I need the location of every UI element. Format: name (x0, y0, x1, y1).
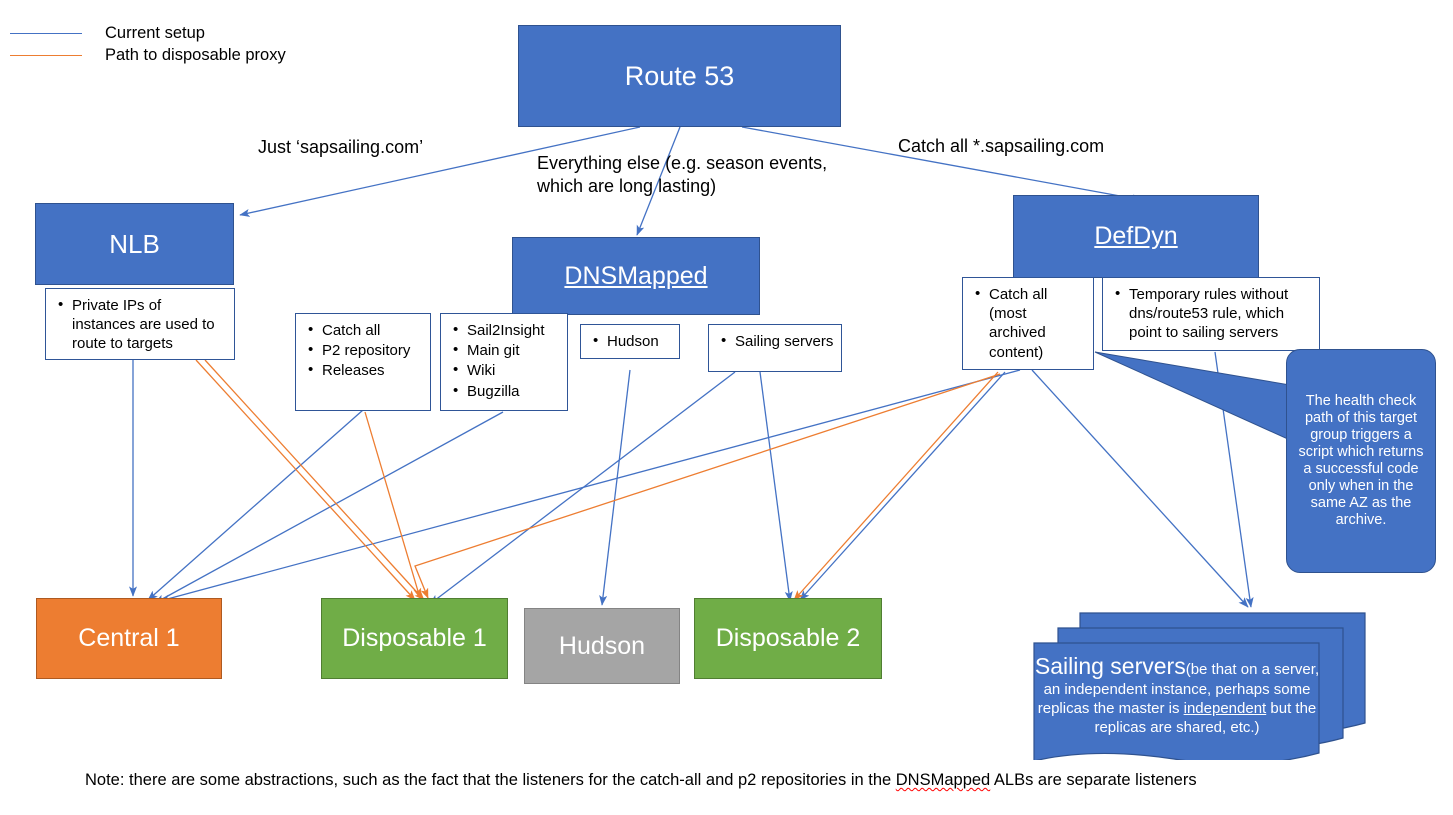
footnote-emphasis: DNSMapped (896, 771, 990, 789)
callout-text: The health check path of this target gro… (1297, 393, 1425, 530)
diagram-canvas: Current setup Path to disposable proxy J… (0, 0, 1453, 815)
node-hudson-label: Hudson (559, 632, 645, 661)
callout-tail-icon (1090, 340, 1300, 570)
node-disposable-1[interactable]: Disposable 1 (321, 598, 508, 679)
node-route53-label: Route 53 (625, 61, 735, 92)
legend-label-disposable-path: Path to disposable proxy (105, 46, 286, 65)
node-disposable-1-label: Disposable 1 (342, 624, 487, 653)
node-disposable-2-label: Disposable 2 (716, 624, 861, 653)
node-hudson[interactable]: Hudson (524, 608, 680, 684)
edge-label-catch-all-wildcard: Catch all *.sapsailing.com (898, 135, 1104, 158)
node-disposable-2[interactable]: Disposable 2 (694, 598, 882, 679)
bullet-item: Sail2Insight (467, 321, 561, 340)
bullet-item: Catch all (322, 321, 424, 340)
bullet-item: Wiki (467, 361, 561, 380)
footnote: Note: there are some abstractions, such … (85, 771, 1197, 790)
edge-label-just-sapsailing: Just ‘sapsailing.com’ (258, 136, 423, 159)
footnote-suffix: ALBs are separate listeners (990, 771, 1196, 789)
legend-label-current-setup: Current setup (105, 24, 205, 43)
bullet-item: Private IPs of instances are used to rou… (72, 296, 228, 354)
node-central-1[interactable]: Central 1 (36, 598, 222, 679)
node-dnsmapped-label: DNSMapped (564, 262, 707, 291)
sailing-servers-caption: Sailing servers(be that on a server, an … (1032, 652, 1322, 738)
bullets-defdyn-catchall: Catch all (most archived content) (962, 277, 1094, 370)
edge-label-everything-else: Everything else (e.g. season events, whi… (537, 152, 827, 197)
node-central-1-label: Central 1 (78, 624, 179, 653)
bullet-item: P2 repository (322, 341, 424, 360)
callout-health-check: The health check path of this target gro… (1286, 349, 1436, 573)
node-route53[interactable]: Route 53 (518, 25, 841, 127)
footnote-prefix: Note: there are some abstractions, such … (85, 771, 896, 789)
bullets-dnsmapped-hudson: Hudson (580, 324, 680, 359)
legend: Current setup Path to disposable proxy (10, 22, 286, 66)
bullet-item: Main git (467, 341, 561, 360)
node-sailing-servers[interactable]: Sailing servers(be that on a server, an … (1020, 605, 1400, 760)
bullets-dnsmapped-tools: Sail2Insight Main git Wiki Bugzilla (440, 313, 568, 411)
node-defdyn-label: DefDyn (1094, 222, 1177, 251)
bullets-nlb-notes: Private IPs of instances are used to rou… (45, 288, 235, 360)
legend-line-orange-icon (10, 55, 82, 56)
bullet-item: Sailing servers (735, 332, 835, 351)
bullet-item: Temporary rules without dns/route53 rule… (1129, 285, 1313, 343)
sailing-servers-title: Sailing servers (1035, 653, 1186, 679)
node-dnsmapped[interactable]: DNSMapped (512, 237, 760, 315)
bullet-item: Hudson (607, 332, 673, 351)
node-nlb-label: NLB (109, 229, 160, 260)
bullets-dnsmapped-sailing: Sailing servers (708, 324, 842, 372)
bullet-item: Releases (322, 361, 424, 380)
legend-line-blue-icon (10, 33, 82, 34)
bullet-item: Bugzilla (467, 382, 561, 401)
bullets-dnsmapped-catchall: Catch all P2 repository Releases (295, 313, 431, 411)
legend-item-disposable-path: Path to disposable proxy (10, 44, 286, 66)
sailing-servers-emphasis: independent (1184, 700, 1267, 717)
bullet-item: Catch all (most archived content) (989, 285, 1087, 362)
node-nlb[interactable]: NLB (35, 203, 234, 285)
node-defdyn[interactable]: DefDyn (1013, 195, 1259, 278)
legend-item-current-setup: Current setup (10, 22, 286, 44)
